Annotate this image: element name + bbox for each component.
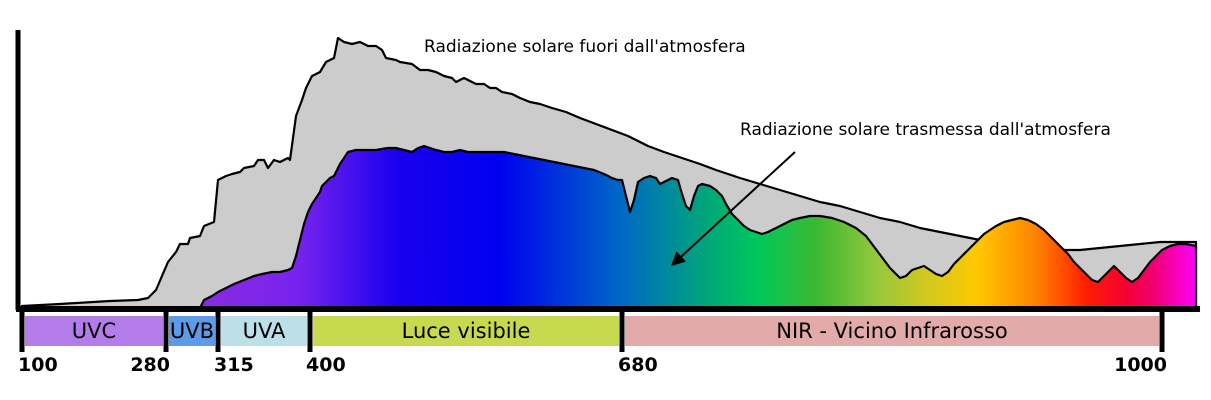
band-nir-vicino-infrarosso[interactable]: NIR - Vicino Infrarosso bbox=[625, 316, 1159, 346]
band-label: UVA bbox=[243, 319, 286, 343]
band-label: UVB bbox=[170, 319, 214, 343]
band-uvc[interactable]: UVC bbox=[25, 316, 163, 346]
wavelength-band-bars: UVCUVBUVALuce visibileNIR - Vicino Infra… bbox=[25, 316, 1159, 346]
tick-label: 100 bbox=[18, 354, 58, 376]
tick-label: 400 bbox=[306, 354, 346, 376]
tick-label: 680 bbox=[618, 354, 658, 376]
band-label: Luce visibile bbox=[402, 319, 531, 343]
band-luce-visibile[interactable]: Luce visibile bbox=[313, 316, 619, 346]
tick-label: 315 bbox=[214, 354, 254, 376]
annotation-extraterrestrial: Radiazione solare fuori dall'atmosfera bbox=[424, 37, 746, 57]
tick-label: 280 bbox=[130, 354, 170, 376]
solar-spectrum-figure: UVCUVBUVALuce visibileNIR - Vicino Infra… bbox=[0, 0, 1211, 400]
annotation-label: Radiazione solare trasmessa dall'atmosfe… bbox=[740, 120, 1111, 140]
band-uvb[interactable]: UVB bbox=[169, 316, 215, 346]
band-uva[interactable]: UVA bbox=[221, 316, 307, 346]
annotation-label: Radiazione solare fuori dall'atmosfera bbox=[424, 37, 746, 57]
spectrum-chart: UVCUVBUVALuce visibileNIR - Vicino Infra… bbox=[0, 0, 1211, 400]
band-label: UVC bbox=[72, 319, 116, 343]
tick-label: 1000 bbox=[1114, 354, 1167, 376]
band-label: NIR - Vicino Infrarosso bbox=[776, 319, 1008, 343]
